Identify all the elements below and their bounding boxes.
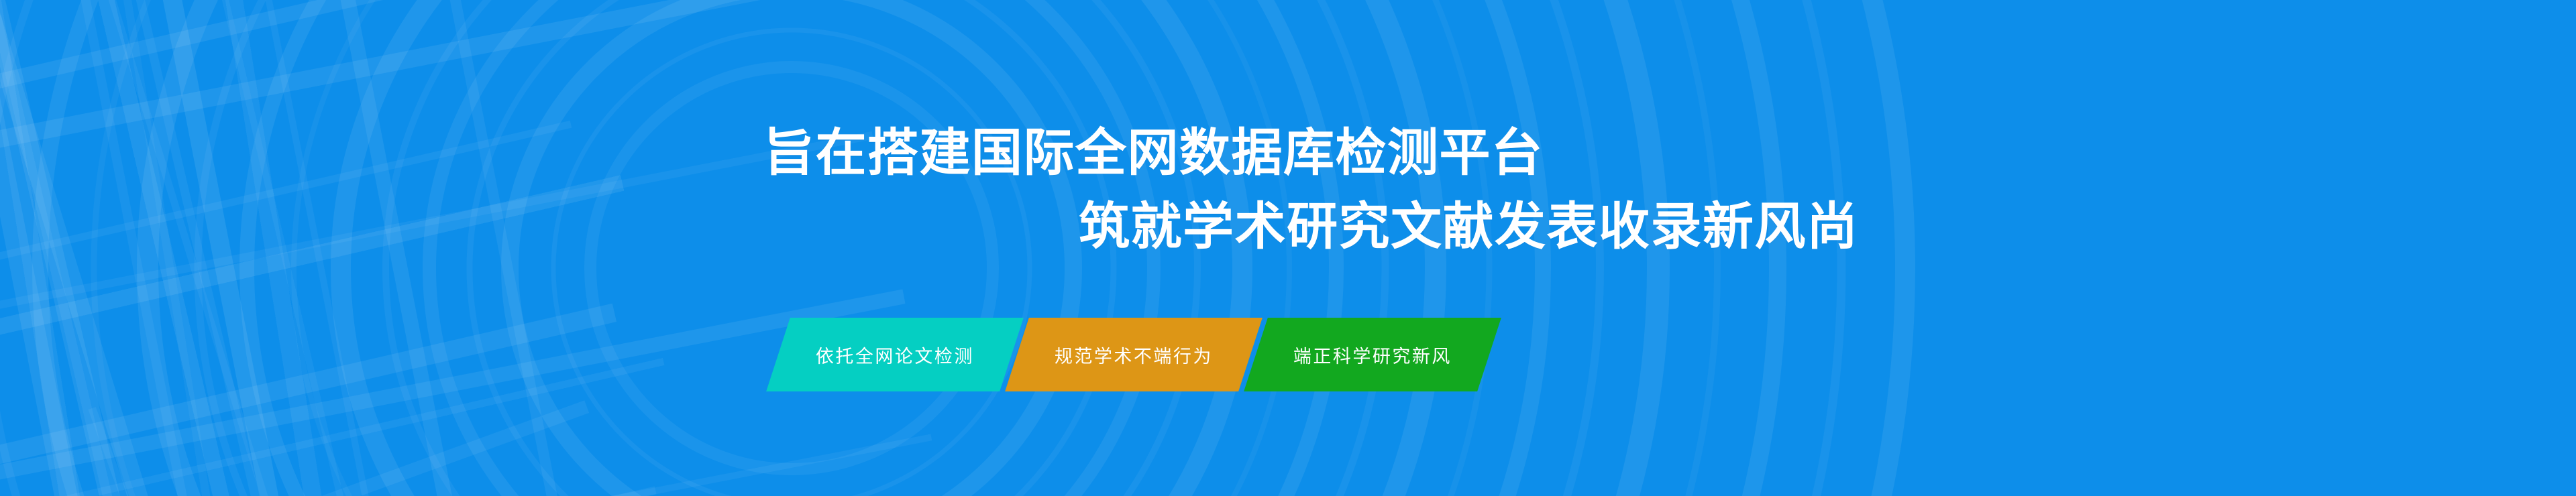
feature-badge-detection-label: 依托全网论文检测: [816, 342, 974, 368]
feature-badge-detection[interactable]: 依托全网论文检测: [766, 318, 1024, 391]
headline-line-1: 旨在搭建国际全网数据库检测平台: [763, 127, 2576, 180]
feature-badge-integrity[interactable]: 端正科学研究新风: [1244, 318, 1501, 391]
feature-badge-misconduct-label: 规范学术不端行为: [1055, 342, 1213, 368]
headline-block: 旨在搭建国际全网数据库检测平台 筑就学术研究文献发表收录新风尚: [0, 127, 2576, 253]
feature-badge-integrity-label: 端正科学研究新风: [1293, 342, 1452, 368]
feature-badge-misconduct[interactable]: 规范学术不端行为: [1005, 318, 1263, 391]
promo-banner: 旨在搭建国际全网数据库检测平台 筑就学术研究文献发表收录新风尚 依托全网论文检测…: [0, 0, 2576, 496]
feature-badge-strip: 依托全网论文检测 规范学术不端行为 端正科学研究新风: [778, 318, 1489, 391]
headline-line-2: 筑就学术研究文献发表收录新风尚: [1079, 201, 2576, 253]
